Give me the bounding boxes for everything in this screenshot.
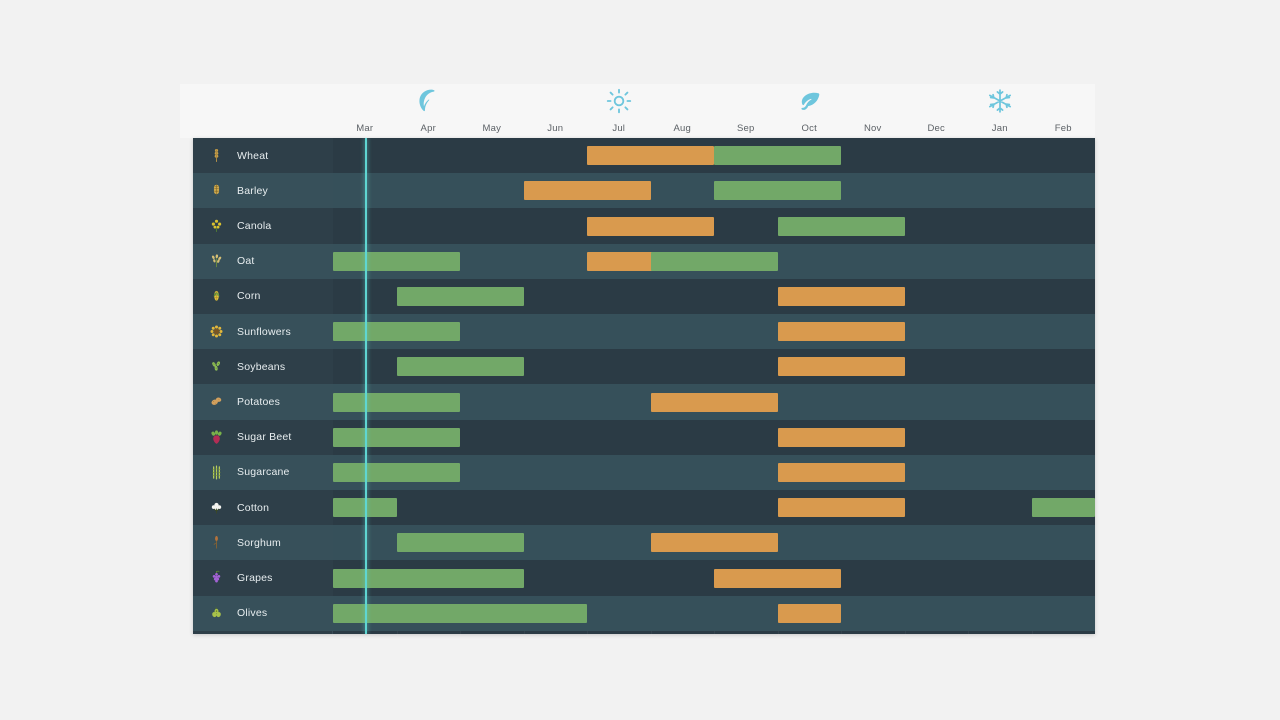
crop-name: Wheat: [237, 150, 268, 162]
planting-bar-potatoes[interactable]: [333, 393, 460, 412]
today-marker-line: [365, 138, 367, 634]
month-label-jun: Jun: [525, 123, 585, 134]
leaf-icon: [412, 86, 442, 116]
harvest-bar-potatoes[interactable]: [651, 393, 778, 412]
planting-bar-corn[interactable]: [397, 287, 524, 306]
harvest-bar-grapes[interactable]: [714, 569, 841, 588]
harvest-bar-sugar-beet[interactable]: [778, 428, 905, 447]
month-label-jan: Jan: [970, 123, 1030, 134]
month-label-apr: Apr: [398, 123, 458, 134]
crop-name: Sugarcane: [237, 466, 290, 478]
crop-row-label-potatoes[interactable]: Potatoes: [193, 384, 333, 419]
crop-row-label-sugarcane[interactable]: Sugarcane: [193, 455, 333, 490]
crop-row-label-cotton[interactable]: Cotton: [193, 490, 333, 525]
crop-row-label-sugar-beet[interactable]: Sugar Beet: [193, 420, 333, 455]
month-label-mar: Mar: [335, 123, 395, 134]
month-label-sep: Sep: [716, 123, 776, 134]
crop-name: Canola: [237, 220, 271, 232]
wheat-icon: [207, 147, 225, 165]
month-label-nov: Nov: [843, 123, 903, 134]
harvest-bar-sunflowers[interactable]: [778, 322, 905, 341]
planting-bar-wheat[interactable]: [714, 146, 841, 165]
potato-icon: [207, 393, 225, 411]
olives-icon: [207, 604, 225, 622]
harvest-bar-wheat[interactable]: [587, 146, 714, 165]
crop-name: Grapes: [237, 572, 273, 584]
sugar-beet-icon: [207, 428, 225, 446]
harvest-bar-olives[interactable]: [778, 604, 842, 623]
falling-leaf-icon: [794, 86, 824, 116]
grapes-icon: [207, 569, 225, 587]
month-label-feb: Feb: [1033, 123, 1093, 134]
harvest-bar-sugarcane[interactable]: [778, 463, 905, 482]
canola-icon: [207, 217, 225, 235]
crop-row-label-oat[interactable]: Oat: [193, 244, 333, 279]
crop-row-label-sorghum[interactable]: Sorghum: [193, 525, 333, 560]
crop-row-label-corn[interactable]: Corn: [193, 279, 333, 314]
crop-calendar-body: WheatBarleyCanolaOatCornSunflowersSoybea…: [193, 138, 1095, 634]
crop-name: Barley: [237, 185, 268, 197]
crop-name: Sugar Beet: [237, 431, 292, 443]
crop-row-label-grapes[interactable]: Grapes: [193, 560, 333, 595]
planting-bar-olives[interactable]: [333, 604, 587, 623]
sun-icon: [604, 86, 634, 116]
month-label-dec: Dec: [906, 123, 966, 134]
gantt-plot-area: [333, 138, 1095, 634]
planting-bar-sugar-beet[interactable]: [333, 428, 460, 447]
crop-name: Corn: [237, 290, 261, 302]
crop-name: Oat: [237, 255, 255, 267]
cotton-icon: [207, 499, 225, 517]
harvest-bar-soybeans[interactable]: [778, 357, 905, 376]
planting-bar-grapes[interactable]: [333, 569, 524, 588]
harvest-bar-corn[interactable]: [778, 287, 905, 306]
timeline-header: MarAprMayJunJulAugSepOctNovDecJanFeb: [180, 84, 1095, 138]
sugarcane-icon: [207, 463, 225, 481]
crop-row-label-canola[interactable]: Canola: [193, 208, 333, 243]
planting-bar-soybeans[interactable]: [397, 357, 524, 376]
crop-label-column: WheatBarleyCanolaOatCornSunflowersSoybea…: [193, 138, 333, 634]
crop-name: Potatoes: [237, 396, 280, 408]
crop-name: Sorghum: [237, 537, 281, 549]
crop-row-label-soybeans[interactable]: Soybeans: [193, 349, 333, 384]
harvest-bar-sorghum[interactable]: [651, 533, 778, 552]
planting-bar-cotton[interactable]: [1032, 498, 1096, 517]
crop-row-label-barley[interactable]: Barley: [193, 173, 333, 208]
crop-calendar-widget: MarAprMayJunJulAugSepOctNovDecJanFeb Whe…: [180, 84, 1095, 634]
month-label-may: May: [462, 123, 522, 134]
crop-name: Cotton: [237, 502, 269, 514]
planting-bar-canola[interactable]: [778, 217, 905, 236]
planting-bar-oat[interactable]: [651, 252, 778, 271]
soybean-icon: [207, 358, 225, 376]
month-label-jul: Jul: [589, 123, 649, 134]
month-label-aug: Aug: [652, 123, 712, 134]
timeline-row: [333, 490, 1095, 525]
harvest-bar-cotton[interactable]: [778, 498, 905, 517]
sunflower-icon: [207, 323, 225, 341]
planting-bar-barley[interactable]: [714, 181, 841, 200]
crop-name: Sunflowers: [237, 326, 291, 338]
crop-row-label-wheat[interactable]: Wheat: [193, 138, 333, 173]
planting-bar-sorghum[interactable]: [397, 533, 524, 552]
barley-icon: [207, 182, 225, 200]
corn-icon: [207, 287, 225, 305]
crop-row-label-sunflowers[interactable]: Sunflowers: [193, 314, 333, 349]
crop-name: Olives: [237, 607, 267, 619]
snowflake-icon: [985, 86, 1015, 116]
planting-bar-sugarcane[interactable]: [333, 463, 460, 482]
month-label-oct: Oct: [779, 123, 839, 134]
harvest-bar-canola[interactable]: [587, 217, 714, 236]
timeline-row: [333, 208, 1095, 243]
planting-bar-oat[interactable]: [333, 252, 460, 271]
crop-row-label-olives[interactable]: Olives: [193, 596, 333, 631]
harvest-bar-barley[interactable]: [524, 181, 651, 200]
crop-name: Soybeans: [237, 361, 285, 373]
planting-bar-sunflowers[interactable]: [333, 322, 460, 341]
oat-icon: [207, 252, 225, 270]
sorghum-icon: [207, 534, 225, 552]
